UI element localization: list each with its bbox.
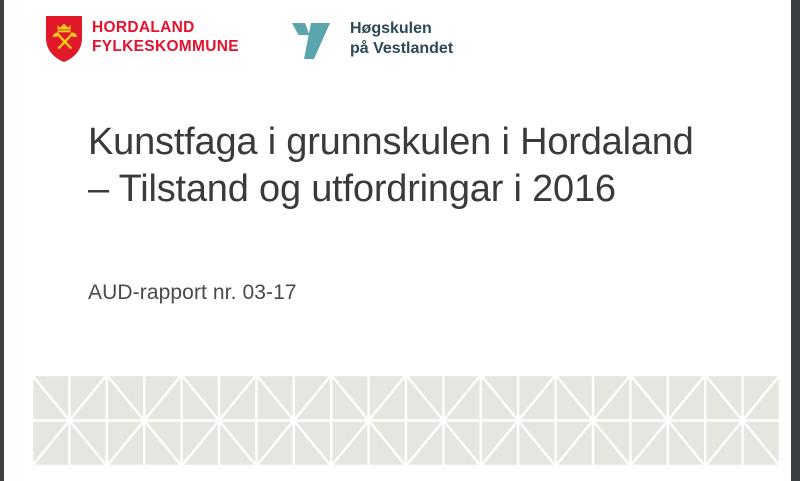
- hvl-wordmark-line-2: på Vestlandet: [350, 39, 453, 59]
- title-line-2: – Tilstand og utfordringar i 2016: [88, 166, 748, 213]
- hvl-wordmark: Høgskulen på Vestlandet: [350, 19, 453, 59]
- title-line-1: Kunstfaga i grunnskulen i Hordaland: [88, 119, 748, 166]
- logo-row: HORDALAND FYLKESKOMMUNE Høgskulen på Ves…: [4, 0, 791, 80]
- page-title: Kunstfaga i grunnskulen i Hordaland – Ti…: [88, 119, 748, 213]
- hordaland-fylkeskommune-logo: HORDALAND FYLKESKOMMUNE: [46, 16, 239, 62]
- hordaland-wordmark: HORDALAND FYLKESKOMMUNE: [92, 19, 239, 57]
- document-page: HORDALAND FYLKESKOMMUNE Høgskulen på Ves…: [4, 0, 791, 481]
- hvl-v-wedge-icon: [290, 17, 342, 61]
- hordaland-wordmark-line-2: FYLKESKOMMUNE: [92, 38, 239, 57]
- right-gutter: [791, 0, 800, 481]
- hordaland-shield-icon: [46, 16, 82, 62]
- document-viewport: HORDALAND FYLKESKOMMUNE Høgskulen på Ves…: [0, 0, 800, 481]
- report-number: AUD-rapport nr. 03-17: [88, 281, 297, 305]
- hvl-wordmark-line-1: Høgskulen: [350, 19, 453, 39]
- hogskulen-pa-vestlandet-logo: Høgskulen på Vestlandet: [290, 17, 453, 61]
- hordaland-wordmark-line-1: HORDALAND: [92, 19, 239, 38]
- triangle-grid-svg: [32, 375, 780, 466]
- triangle-grid-pattern: [32, 375, 780, 466]
